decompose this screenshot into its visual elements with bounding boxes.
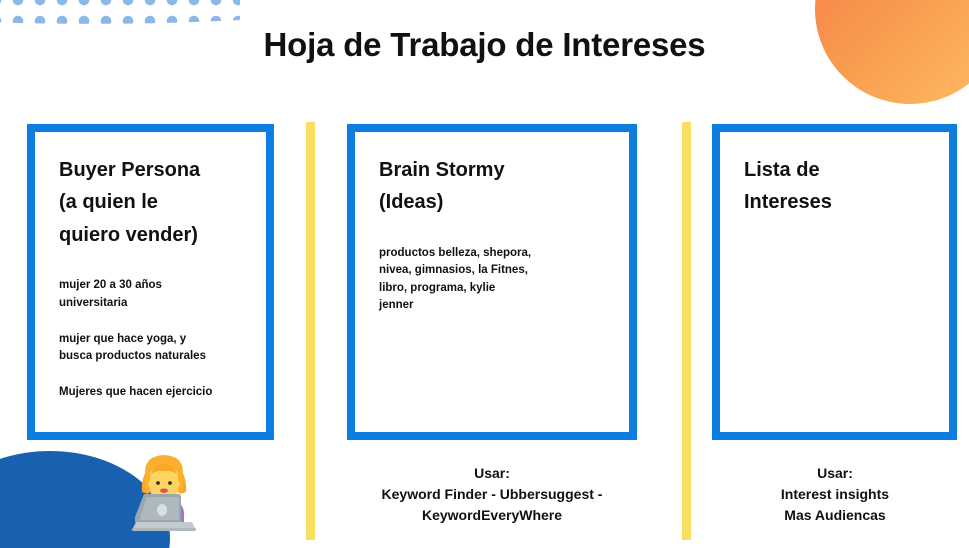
card-buyer-persona[interactable]: Buyer Persona (a quien le quiero vender)… (27, 124, 274, 440)
card-brain-stormy[interactable]: Brain Stormy (Ideas) productos belleza, … (347, 124, 637, 440)
column-divider-2 (682, 122, 691, 540)
column-brain-stormy: Brain Stormy (Ideas) productos belleza, … (347, 124, 637, 440)
column-divider-1 (306, 122, 315, 540)
worksheet-board: Buyer Persona (a quien le quiero vender)… (0, 0, 969, 548)
column-buyer-persona: Buyer Persona (a quien le quiero vender)… (27, 124, 274, 440)
woman-technologist-icon (118, 450, 210, 536)
card-heading-lista-de-intereses: Lista de Intereses (744, 154, 929, 219)
footer-lista-de-intereses: Usar: Interest insights Mas Audiencas (705, 463, 965, 526)
card-lista-de-intereses[interactable]: Lista de Intereses (712, 124, 957, 440)
card-heading-brain-stormy: Brain Stormy (Ideas) (379, 154, 609, 219)
footer-brain-stormy: Usar: Keyword Finder - Ubbersuggest - Ke… (337, 463, 647, 526)
column-lista-de-intereses: Lista de Intereses (712, 124, 957, 440)
card-heading-buyer-persona: Buyer Persona (a quien le quiero vender) (59, 154, 246, 251)
card-body-buyer-persona: mujer 20 a 30 años universitaria mujer q… (59, 277, 246, 402)
card-body-brain-stormy: productos belleza, shepora, nivea, gimna… (379, 245, 609, 315)
